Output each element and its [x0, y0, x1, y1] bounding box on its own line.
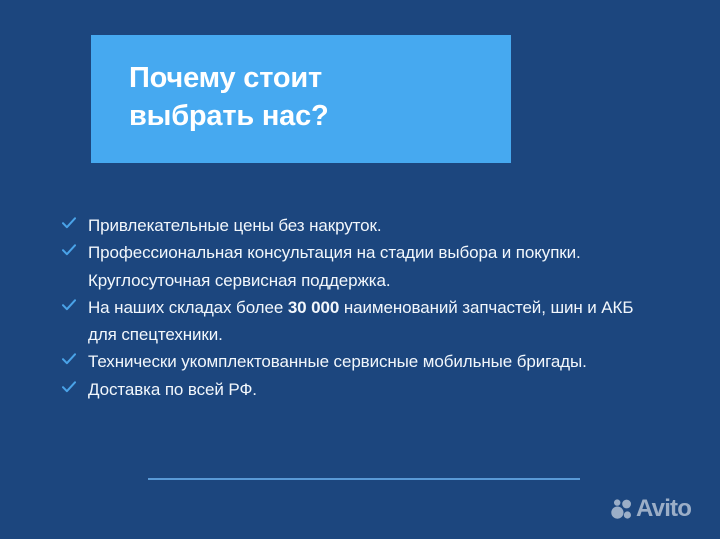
list-item: Привлекательные цены без накруток.	[62, 212, 662, 239]
list-item-marker	[62, 376, 88, 393]
footer-divider	[148, 478, 580, 480]
list-item-label: Технически укомплектованные сервисные мо…	[88, 348, 587, 375]
list-item: Технически укомплектованные сервисные мо…	[62, 348, 662, 375]
list-item-emphasis: 30 000	[288, 298, 339, 317]
list-item-marker	[62, 239, 88, 256]
check-icon	[62, 299, 76, 311]
slide-canvas: Почему стоит выбрать нас? Привлекательны…	[0, 0, 720, 539]
check-icon	[62, 244, 76, 256]
title-highlight-box: Почему стоит выбрать нас?	[91, 35, 511, 163]
list-item-label: На наших складах более 30 000 наименован…	[88, 294, 662, 349]
page-title: Почему стоит выбрать нас?	[129, 59, 329, 135]
check-icon	[62, 353, 76, 365]
list-item-label: Доставка по всей РФ.	[88, 376, 257, 403]
check-icon	[62, 217, 76, 229]
list-item: Доставка по всей РФ.	[62, 376, 662, 403]
list-item: Профессиональная консультация на стадии …	[62, 239, 662, 294]
benefits-list: Привлекательные цены без накруток.Профес…	[62, 212, 662, 403]
avito-watermark: Avito	[611, 497, 691, 521]
list-item-label: Профессиональная консультация на стадии …	[88, 239, 662, 294]
avito-wordmark-label: Avito	[636, 497, 691, 521]
check-icon	[62, 381, 76, 393]
list-item: На наших складах более 30 000 наименован…	[62, 294, 662, 349]
list-item-marker	[62, 294, 88, 311]
list-item-label: Привлекательные цены без накруток.	[88, 212, 381, 239]
list-item-marker	[62, 212, 88, 229]
avito-logo-icon	[611, 499, 633, 520]
list-item-marker	[62, 348, 88, 365]
